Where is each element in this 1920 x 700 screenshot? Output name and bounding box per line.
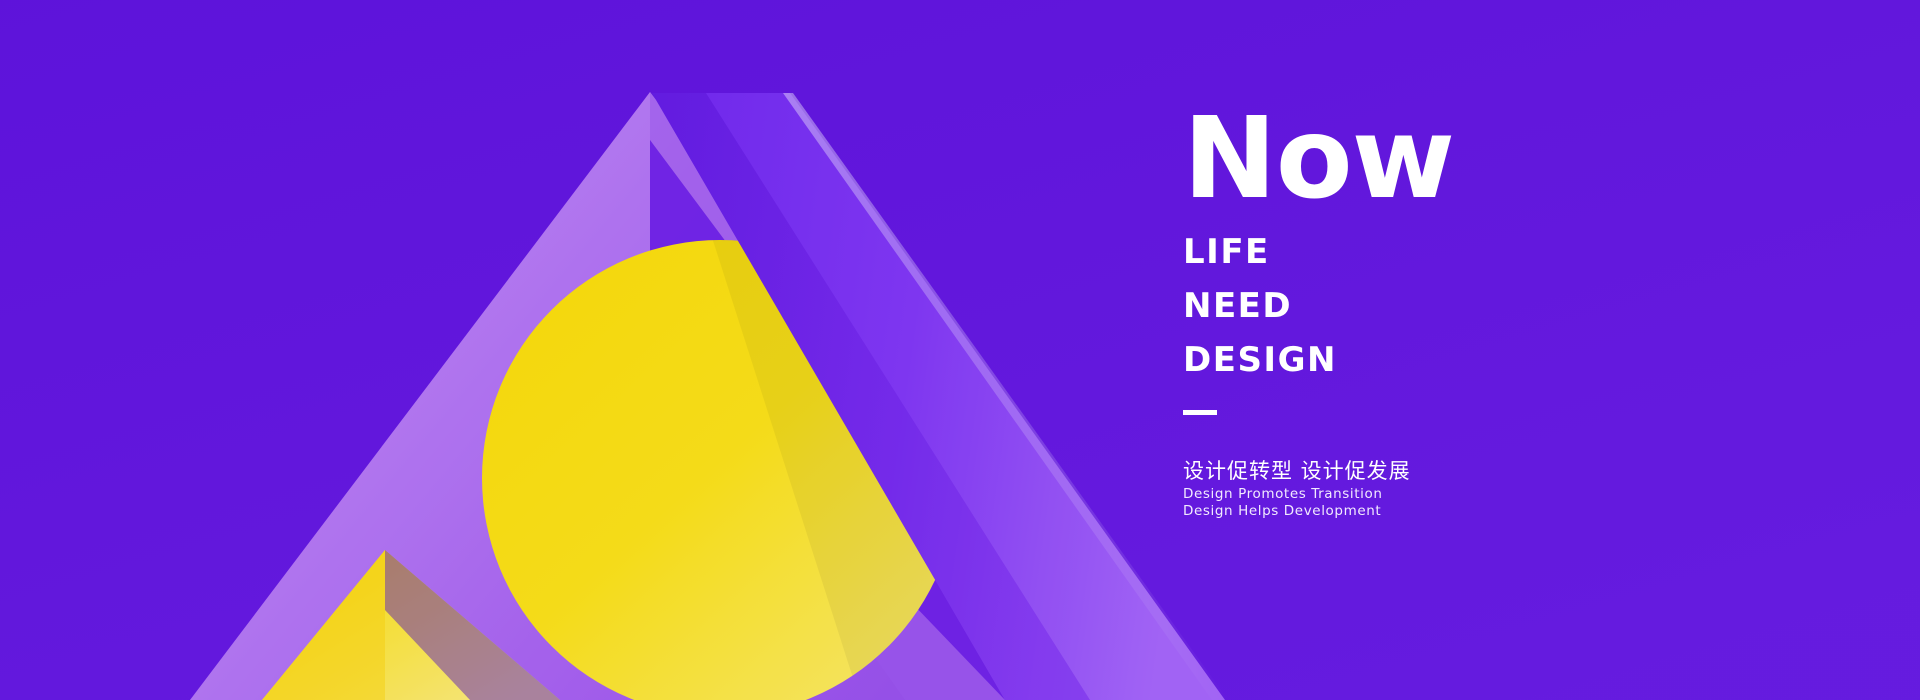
hero-copy: Now LIFE NEED DESIGN 设计促转型 设计促发展 Design … — [1183, 108, 1703, 415]
headline-stack: LIFE NEED DESIGN — [1183, 225, 1703, 387]
subtitle-line-1: Design Promotes Transition — [1183, 486, 1383, 503]
headline-line-design: DESIGN — [1183, 333, 1703, 387]
divider-rule — [1183, 410, 1217, 415]
subtitle-block: Design Promotes Transition Design Helps … — [1183, 486, 1383, 520]
headline-line-need: NEED — [1183, 279, 1703, 333]
hero-banner: Now LIFE NEED DESIGN 设计促转型 设计促发展 Design … — [0, 0, 1920, 700]
subtitle-line-2: Design Helps Development — [1183, 503, 1383, 520]
headline-line-life: LIFE — [1183, 225, 1703, 279]
tagline-chinese: 设计促转型 设计促发展 — [1183, 455, 1411, 485]
wordmark-now: Now — [1183, 108, 1703, 211]
